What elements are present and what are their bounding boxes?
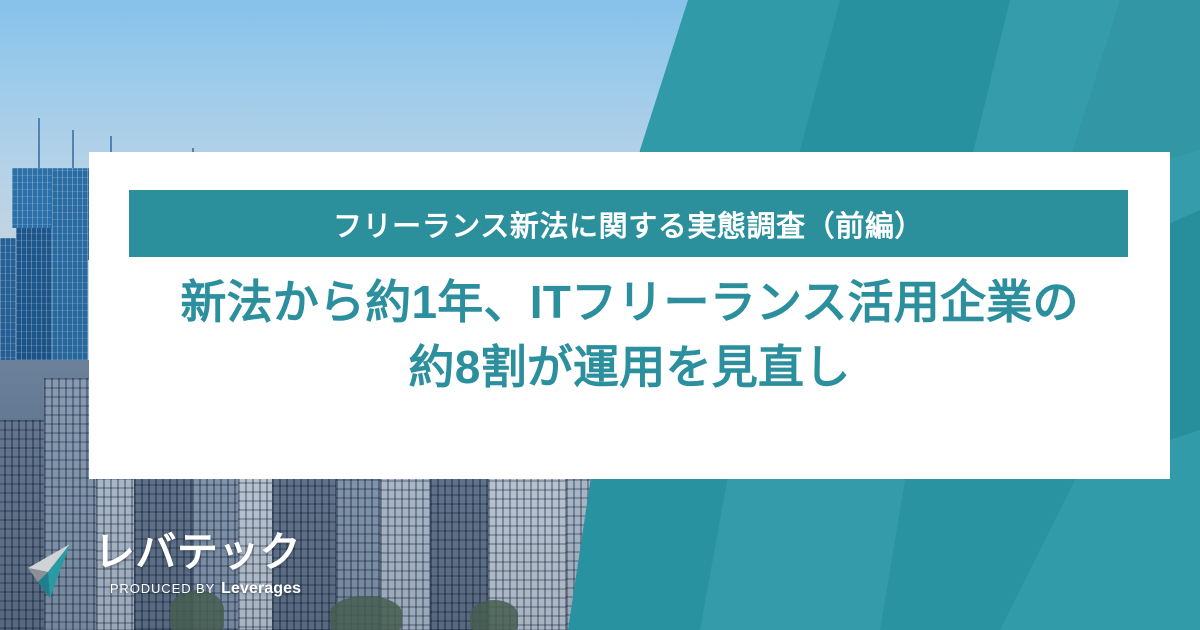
eyebrow-banner: フリーランス新法に関する実態調査（前編） [129,190,1128,257]
brand-logo: レバテック PRODUCED BY Leverages [26,532,301,600]
content-card: フリーランス新法に関する実態調査（前編） 新法から約1年、ITフリーランス活用企… [89,152,1170,479]
logo-wordmark: レバテック [94,532,301,573]
page-title: 新法から約1年、ITフリーランス活用企業の 約8割が運用を見直し [89,270,1170,401]
headline-line-1: 新法から約1年、ITフリーランス活用企業の [89,270,1170,335]
company-name: Leverages [221,580,301,598]
logo-subline: PRODUCED BY Leverages [94,580,301,598]
paper-plane-icon [26,542,86,600]
headline-line-2: 約8割が運用を見直し [89,335,1170,400]
logo-text-block: レバテック PRODUCED BY Leverages [94,532,301,600]
produced-by-label: PRODUCED BY [110,581,215,596]
ogp-banner: フリーランス新法に関する実態調査（前編） 新法から約1年、ITフリーランス活用企… [0,0,1200,630]
eyebrow-text: フリーランス新法に関する実態調査（前編） [333,203,924,245]
